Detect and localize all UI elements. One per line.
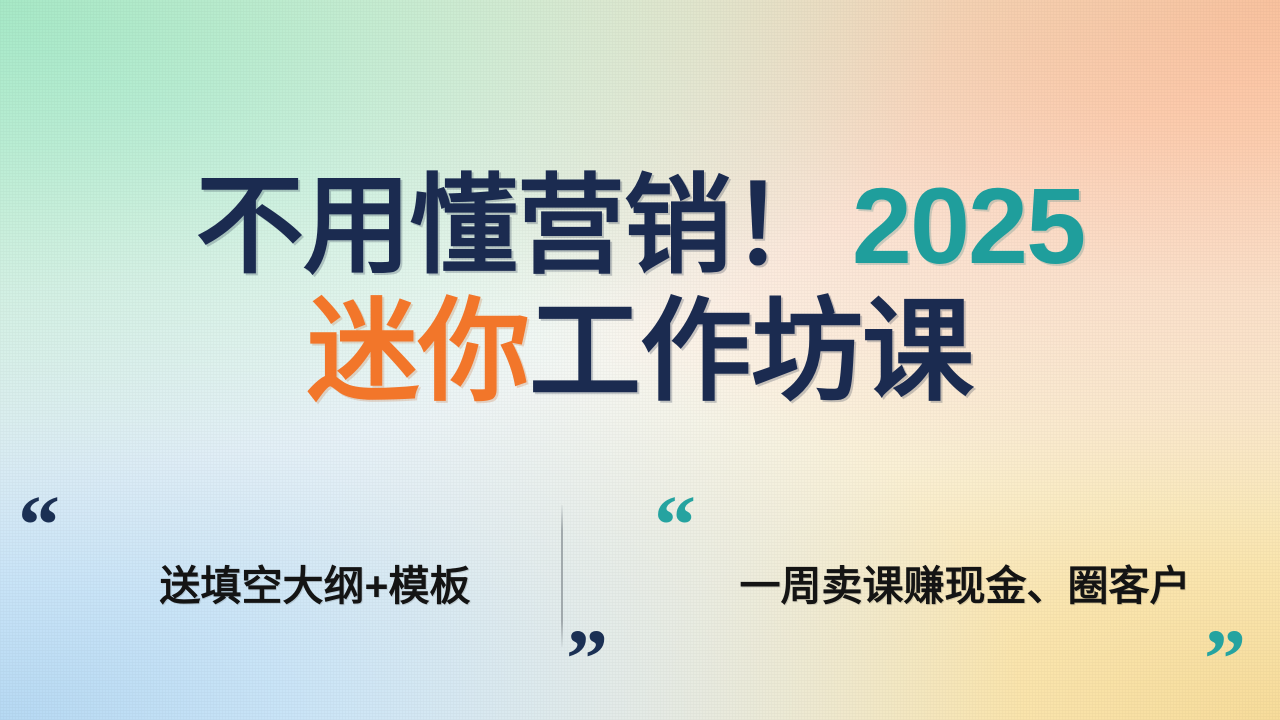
benefit-right-label: 一周卖课赚现金、圈客户 (740, 552, 1191, 612)
quote-close-icon: ” (566, 618, 608, 702)
benefit-left-label: 送填空大纲+模板 (160, 552, 471, 612)
headline-phrase-main: 不用懂营销！ (196, 165, 838, 286)
promo-poster: 不用懂营销！2025 迷你工作坊课 “ 送填空大纲+模板 ” “ 一周卖课赚现金… (0, 0, 1280, 720)
quote-open-icon: “ (18, 484, 60, 568)
benefit-item-left: “ 送填空大纲+模板 ” (0, 492, 640, 672)
headline: 不用懂营销！2025 迷你工作坊课 (0, 172, 1280, 408)
benefits-divider (561, 505, 563, 647)
headline-phrase-workshop: 工作坊课 (529, 289, 973, 414)
headline-line-2: 迷你工作坊课 (0, 296, 1280, 408)
headline-line-1: 不用懂营销！2025 (0, 172, 1280, 280)
headline-year: 2025 (838, 165, 1084, 286)
quote-open-icon: “ (654, 484, 696, 568)
quote-close-icon: ” (1204, 618, 1246, 702)
headline-highlight-mini: 迷你 (307, 289, 529, 414)
benefit-item-right: “ 一周卖课赚现金、圈客户 ” (640, 492, 1280, 672)
benefits-strip: “ 送填空大纲+模板 ” “ 一周卖课赚现金、圈客户 ” (0, 492, 1280, 672)
